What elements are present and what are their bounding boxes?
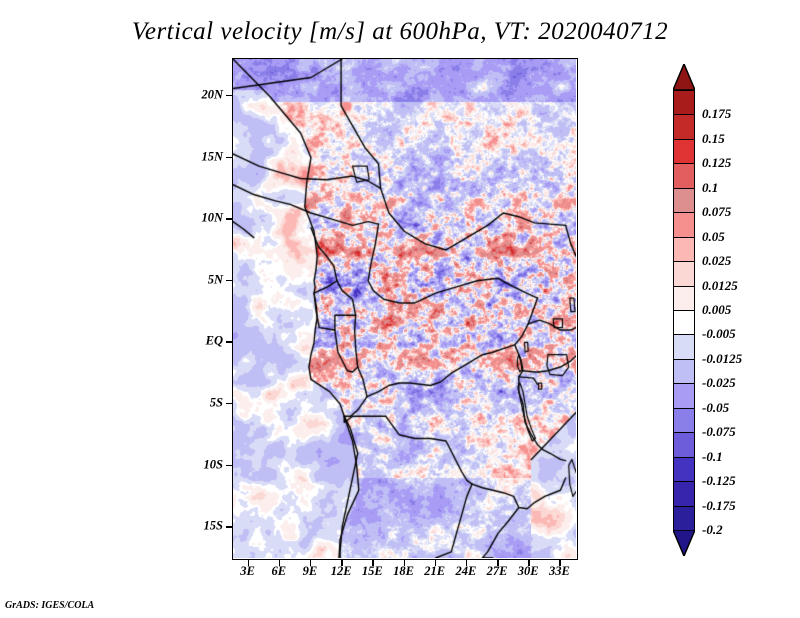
latitude-tick xyxy=(226,341,232,343)
colorbar-band xyxy=(673,481,695,507)
colorbar-band xyxy=(673,163,695,189)
colorbar-tick-label: -0.2 xyxy=(702,522,723,538)
colorbar-cap-max xyxy=(673,64,695,90)
colorbar-tick-label: 0.125 xyxy=(702,155,731,171)
longitude-tick-label: 33E xyxy=(549,564,570,579)
colorbar-band xyxy=(673,188,695,214)
longitude-tick-label: 21E xyxy=(424,564,445,579)
latitude-tick-label: 10S xyxy=(204,457,223,472)
map-plot-area: 20N15N10N5NEQ5S10S15S 3E6E9E12E15E18E21E… xyxy=(232,58,578,560)
longitude-tick-label: 30E xyxy=(518,564,539,579)
latitude-tick-label: 5N xyxy=(208,272,223,287)
longitude-tick-label: 27E xyxy=(487,564,508,579)
colorbar-tick-label: -0.025 xyxy=(702,375,736,391)
credit-text: GrADS: IGES/COLA xyxy=(5,600,94,611)
latitude-tick-label: 20N xyxy=(201,87,223,102)
colorbar-band xyxy=(673,506,695,532)
vertical-velocity-heatmap xyxy=(233,59,576,558)
colorbar-band xyxy=(673,383,695,409)
page-title: Vertical velocity [m/s] at 600hPa, VT: 2… xyxy=(0,18,800,46)
latitude-tick xyxy=(226,403,232,405)
colorbar-band xyxy=(673,432,695,458)
colorbar-tick-label: -0.125 xyxy=(702,473,736,489)
longitude-tick-label: 24E xyxy=(455,564,476,579)
colorbar-tick-label: 0.175 xyxy=(702,106,731,122)
colorbar-band xyxy=(673,212,695,238)
colorbar-band xyxy=(673,334,695,360)
colorbar-tick-label: -0.1 xyxy=(702,449,723,465)
latitude-tick-label: 5S xyxy=(210,395,223,410)
latitude-tick xyxy=(226,95,232,97)
colorbar-tick-label: 0.1 xyxy=(702,180,718,196)
longitude-tick-label: 6E xyxy=(271,564,286,579)
colorbar-cap-min xyxy=(673,530,695,556)
map-frame xyxy=(232,58,578,560)
colorbar-tick-label: 0.0125 xyxy=(702,278,738,294)
latitude-tick xyxy=(226,157,232,159)
latitude-tick-label: 15N xyxy=(201,149,223,164)
colorbar-band xyxy=(673,114,695,140)
latitude-tick xyxy=(226,526,232,528)
latitude-tick xyxy=(226,465,232,467)
colorbar-band xyxy=(673,457,695,483)
colorbar-band xyxy=(673,408,695,434)
colorbar-tick-label: -0.05 xyxy=(702,400,729,416)
latitude-tick-label: 15S xyxy=(204,519,223,534)
colorbar-tick-label: -0.005 xyxy=(702,326,736,342)
latitude-tick-label: EQ xyxy=(206,334,223,349)
colorbar-band xyxy=(673,139,695,165)
colorbar-tick-label: 0.025 xyxy=(702,253,731,269)
colorbar-tick-label: -0.075 xyxy=(702,424,736,440)
colorbar-band xyxy=(673,286,695,312)
longitude-tick-label: 15E xyxy=(362,564,383,579)
colorbar: 0.1750.150.1250.10.0750.050.0250.01250.0… xyxy=(673,64,695,556)
colorbar-band xyxy=(673,90,695,116)
colorbar-tick-label: -0.175 xyxy=(702,498,736,514)
colorbar-band xyxy=(673,261,695,287)
colorbar-band xyxy=(673,237,695,263)
latitude-tick xyxy=(226,218,232,220)
colorbar-tick-label: 0.075 xyxy=(702,204,731,220)
latitude-tick xyxy=(226,280,232,282)
longitude-tick-label: 12E xyxy=(331,564,352,579)
colorbar-tick-label: -0.0125 xyxy=(702,351,742,367)
latitude-tick-label: 10N xyxy=(201,211,223,226)
colorbar-tick-label: 0.05 xyxy=(702,229,725,245)
colorbar-band xyxy=(673,359,695,385)
longitude-tick-label: 18E xyxy=(393,564,414,579)
colorbar-band xyxy=(673,310,695,336)
colorbar-tick-label: 0.005 xyxy=(702,302,731,318)
colorbar-tick-label: 0.15 xyxy=(702,131,725,147)
longitude-tick-label: 3E xyxy=(240,564,255,579)
longitude-tick-label: 9E xyxy=(303,564,318,579)
